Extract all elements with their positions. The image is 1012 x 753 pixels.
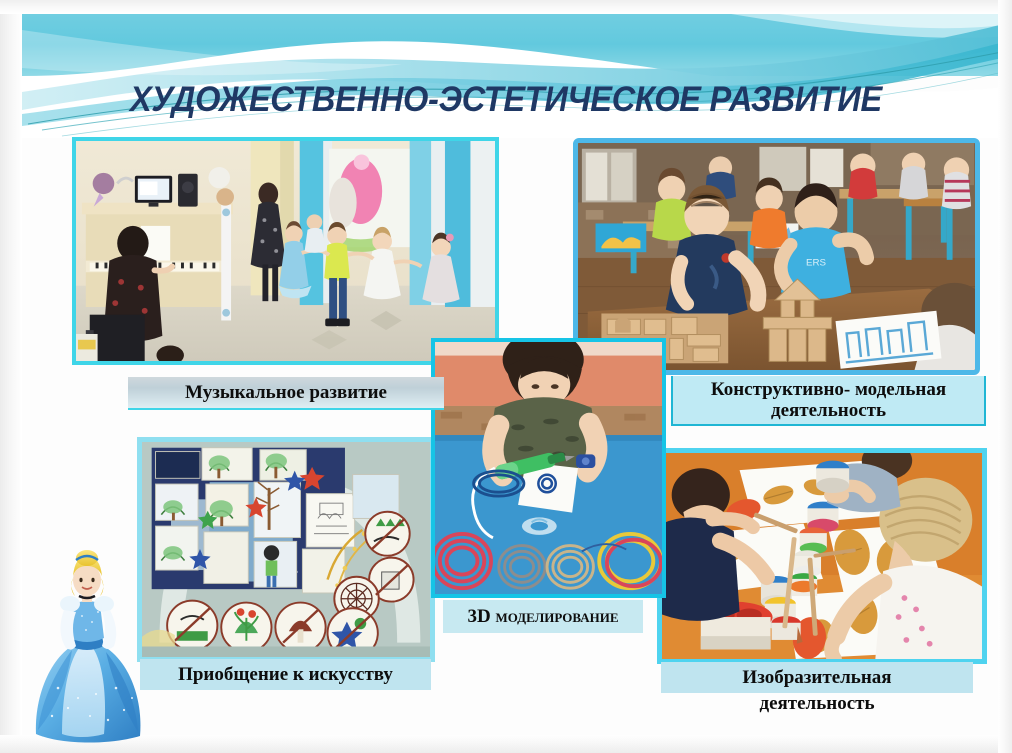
slide-edge-left [0,0,22,753]
svg-text:ERS: ERS [806,258,826,269]
cinderella-decoration [28,548,146,748]
slide-edge-right [998,0,1012,753]
caption-paint-line1: Изобразительная [742,667,891,688]
photo-music-image [76,141,495,361]
photo-painting-activity [657,448,987,664]
photo-construction-image: ERS [578,143,975,370]
caption-music-text: Музыкальное развитие [185,382,387,403]
caption-art-text: Приобщение к искусству [178,664,393,685]
photo-painting-image [662,453,982,659]
caption-fine-arts-activity: Изобразительная деятельность [661,662,973,693]
caption-paint-line2: деятельность [661,693,973,714]
caption-construction-activity: Конструктивно- модельная деятельность [671,376,986,426]
photo-art-image [142,442,430,657]
slide-edge-top [0,0,1012,14]
slide-canvas: ХУДОЖЕСТВЕННО-ЭСТЕТИЧЕСКОЕ РАЗВИТИЕ [0,0,1012,753]
slide-title: ХУДОЖЕСТВЕННО-ЭСТЕТИЧЕСКОЕ РАЗВИТИЕ [35,80,976,120]
photo-3d-image [435,342,662,594]
caption-3d-text: 3D моделирование [467,606,618,627]
photo-art-exhibition [137,437,435,662]
caption-construction-line2: деятельность [771,400,886,421]
caption-music-development: Музыкальное развитие [128,377,444,410]
caption-art-introduction: Приобщение к искусству [140,659,431,690]
caption-construction-line1: Конструктивно- модельная [711,379,946,400]
caption-3d-modelling: 3D моделирование [443,600,643,633]
slide-edge-bottom [0,735,1012,753]
photo-music-development [72,137,499,365]
photo-3d-modelling [431,338,666,598]
